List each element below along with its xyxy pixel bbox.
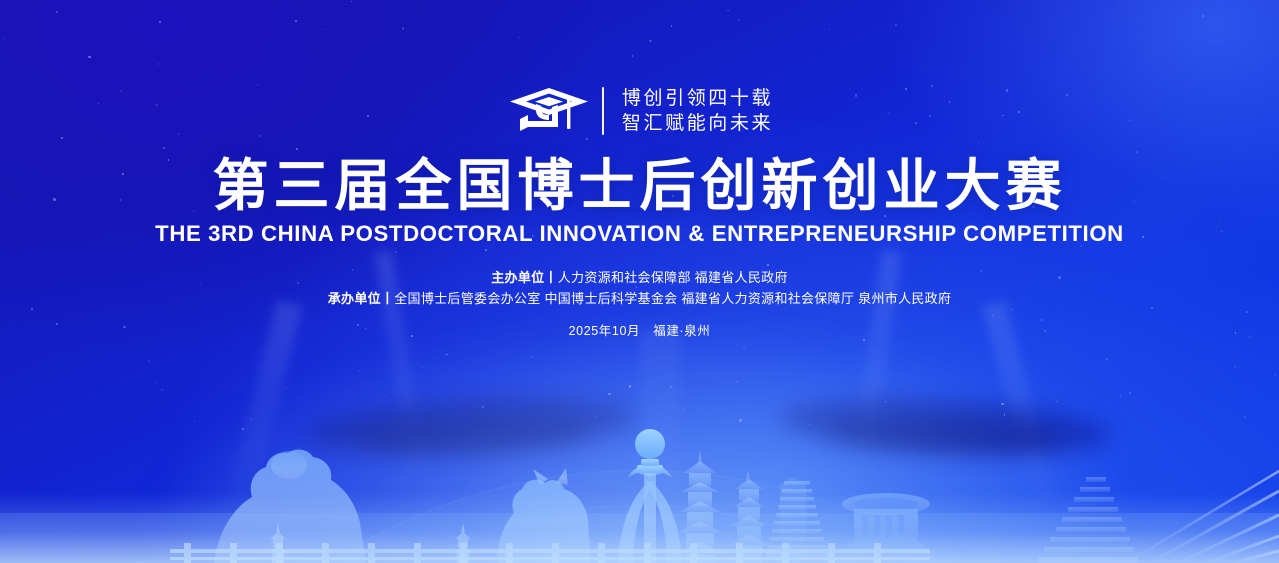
co-organizer-label: 承办单位丨 <box>328 291 395 306</box>
poster-header: 博创引领四十载 智汇赋能向未来 第三届全国博士后创新创业大赛 THE 3RD C… <box>0 0 1279 340</box>
event-meta-separator <box>640 324 653 338</box>
bottom-glow <box>140 323 1140 563</box>
co-organizer-line: 承办单位丨全国博士后管委会办公室 中国博士后科学基金会 福建省人力资源和社会保障… <box>0 288 1279 309</box>
event-date: 2025年10月 <box>569 324 641 338</box>
page-title: 第三届全国博士后创新创业大赛 <box>0 156 1279 218</box>
poster-canvas: 博创引领四十载 智汇赋能向未来 第三届全国博士后创新创业大赛 THE 3RD C… <box>0 0 1279 563</box>
slogan-line-1: 博创引领四十载 <box>622 89 773 109</box>
slogan-line-2: 智汇赋能向未来 <box>622 114 773 134</box>
graduation-cap-icon <box>506 85 592 137</box>
event-meta-line: 2025年10月 福建·泉州 <box>0 322 1279 340</box>
brand-lockup: 博创引领四十载 智汇赋能向未来 <box>0 74 1279 148</box>
page-subtitle-en: THE 3RD CHINA POSTDOCTORAL INNOVATION & … <box>0 221 1279 247</box>
host-organizer-value: 人力资源和社会保障部 福建省人民政府 <box>558 270 788 285</box>
organizer-block: 主办单位丨人力资源和社会保障部 福建省人民政府 承办单位丨全国博士后管委会办公室… <box>0 267 1279 309</box>
event-location: 福建·泉州 <box>653 324 710 338</box>
host-organizer-line: 主办单位丨人力资源和社会保障部 福建省人民政府 <box>0 267 1279 288</box>
co-organizer-value: 全国博士后管委会办公室 中国博士后科学基金会 福建省人力资源和社会保障厅 泉州市… <box>394 291 951 306</box>
brand-slogan: 博创引领四十载 智汇赋能向未来 <box>622 89 773 134</box>
host-organizer-label: 主办单位丨 <box>491 270 558 285</box>
brand-divider <box>602 87 604 135</box>
